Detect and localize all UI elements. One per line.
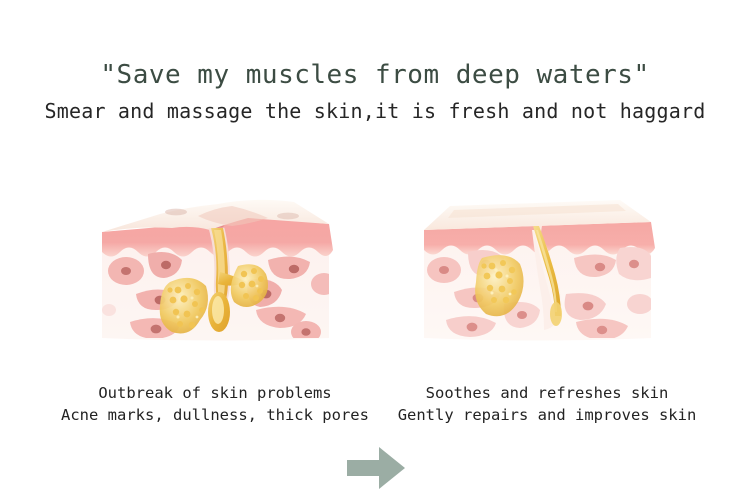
caption-problem: Outbreak of skin problems Acne marks, du… <box>40 382 390 426</box>
before-after-figures <box>0 186 750 366</box>
caption-problem-line2: Acne marks, dullness, thick pores <box>40 404 390 426</box>
caption-healthy: Soothes and refreshes skin Gently repair… <box>372 382 722 426</box>
page-subtitle: Smear and massage the skin,it is fresh a… <box>0 99 750 123</box>
right-arrow-icon <box>345 444 407 492</box>
caption-healthy-line1: Soothes and refreshes skin <box>372 382 722 404</box>
caption-healthy-line2: Gently repairs and improves skin <box>372 404 722 426</box>
caption-problem-line1: Outbreak of skin problems <box>40 382 390 404</box>
page-title: "Save my muscles from deep waters" <box>0 60 750 90</box>
skin-cross-section-healthy <box>420 186 655 361</box>
promo-banner: "Save my muscles from deep waters" Smear… <box>0 0 750 491</box>
skin-cross-section-problem <box>98 186 333 361</box>
